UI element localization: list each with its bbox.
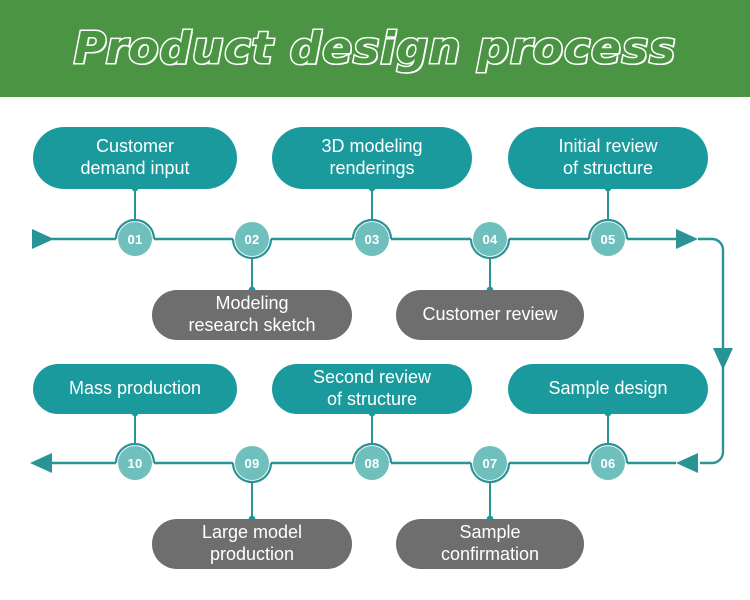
step-number-03: 03 — [364, 232, 379, 247]
step-badge-01[interactable]: 01 — [118, 222, 152, 256]
step-box-05[interactable]: Initial review of structure — [508, 127, 708, 189]
step-box-07[interactable]: Sample confirmation — [396, 519, 584, 569]
step-badge-10[interactable]: 10 — [118, 446, 152, 480]
product-design-process-infographic: Product design process .wire { stroke:#2… — [0, 0, 750, 600]
step-label-02: Modeling research sketch — [188, 293, 315, 337]
step-badge-04[interactable]: 04 — [473, 222, 507, 256]
step-label-06: Sample design — [548, 378, 667, 400]
step-box-09[interactable]: Large model production — [152, 519, 352, 569]
step-label-05: Initial review of structure — [558, 136, 657, 180]
step-number-09: 09 — [244, 456, 259, 471]
step-badge-02[interactable]: 02 — [235, 222, 269, 256]
step-label-08: Second review of structure — [313, 367, 431, 411]
step-box-10[interactable]: Mass production — [33, 364, 237, 414]
step-box-04[interactable]: Customer review — [396, 290, 584, 340]
step-badge-07[interactable]: 07 — [473, 446, 507, 480]
step-label-04: Customer review — [422, 304, 557, 326]
step-badge-08[interactable]: 08 — [355, 446, 389, 480]
step-box-01[interactable]: Customer demand input — [33, 127, 237, 189]
step-label-07: Sample confirmation — [441, 522, 539, 566]
step-number-04: 04 — [482, 232, 497, 247]
page-title: Product design process — [0, 0, 750, 97]
step-number-05: 05 — [600, 232, 615, 247]
step-box-03[interactable]: 3D modeling renderings — [272, 127, 472, 189]
step-box-02[interactable]: Modeling research sketch — [152, 290, 352, 340]
step-label-01: Customer demand input — [80, 136, 189, 180]
step-badge-03[interactable]: 03 — [355, 222, 389, 256]
step-number-08: 08 — [364, 456, 379, 471]
step-badge-06[interactable]: 06 — [591, 446, 625, 480]
step-number-10: 10 — [127, 456, 142, 471]
step-badge-09[interactable]: 09 — [235, 446, 269, 480]
step-label-09: Large model production — [202, 522, 302, 566]
step-number-01: 01 — [127, 232, 142, 247]
step-number-06: 06 — [600, 456, 615, 471]
step-number-02: 02 — [244, 232, 259, 247]
step-number-07: 07 — [482, 456, 497, 471]
step-label-03: 3D modeling renderings — [321, 136, 422, 180]
step-badge-05[interactable]: 05 — [591, 222, 625, 256]
step-label-10: Mass production — [69, 378, 201, 400]
step-box-06[interactable]: Sample design — [508, 364, 708, 414]
step-box-08[interactable]: Second review of structure — [272, 364, 472, 414]
